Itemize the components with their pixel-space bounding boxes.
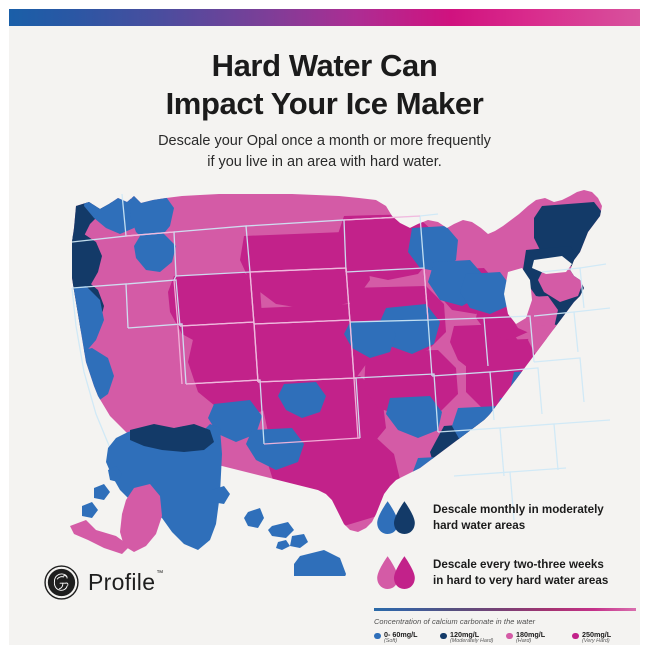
frame-right	[640, 0, 649, 654]
subtitle-line-2: if you live in an area with hard water.	[0, 152, 649, 173]
region-soft-arkansas-s	[412, 456, 470, 502]
hawaii-lanai	[276, 540, 290, 550]
scale-sub-very-hard: (Very Hard)	[582, 639, 611, 645]
hawaii-oahu	[244, 508, 264, 528]
frame-top	[0, 0, 649, 9]
ge-monogram-icon: GE	[44, 565, 79, 600]
scale-sub-hard: (Hard)	[516, 639, 545, 645]
alaska-island-2	[94, 484, 110, 500]
water-droplet-pair-blue-icon	[374, 498, 422, 538]
legend-pink-line-2: in hard to very hard water areas	[433, 573, 608, 589]
hawaii-big-island	[294, 550, 346, 576]
ge-profile-logo: GE Profile™	[44, 565, 163, 600]
scale-dot-very-hard	[572, 633, 579, 640]
legend-blue-line-2: hard water areas	[433, 518, 604, 534]
headline-line-1: Hard Water Can	[0, 47, 649, 85]
legend-row-pink: Descale every two-three weeks in hard to…	[374, 553, 640, 593]
region-soft-ohio-valley	[510, 370, 566, 416]
scale-item-very-hard: 250mg/L (Very Hard)	[572, 631, 638, 645]
scale-legend-items: 0- 60mg/L (Soft) 120mg/L (Moderately Har…	[374, 631, 640, 645]
scale-dot-soft	[374, 633, 381, 640]
scale-sub-moderately-hard: (Moderately Hard)	[450, 639, 493, 645]
subtitle-line-1: Descale your Opal once a month or more f…	[0, 131, 649, 152]
headline-line-2: Impact Your Ice Maker	[0, 85, 649, 123]
page-title: Hard Water Can Impact Your Ice Maker	[0, 47, 649, 123]
legend-panel: Descale monthly in moderately hard water…	[374, 498, 640, 654]
legend-pink-line-1: Descale every two-three weeks	[433, 557, 608, 573]
hawaii-molokai	[268, 522, 294, 538]
scale-dot-moderately-hard	[440, 633, 447, 640]
scale-item-moderately-hard: 120mg/L (Moderately Hard)	[440, 631, 506, 645]
legend-pink-text: Descale every two-three weeks in hard to…	[433, 553, 608, 588]
water-droplet-pair-pink-icon	[374, 553, 422, 593]
scale-caption: Concentration of calcium carbonate in th…	[374, 617, 640, 626]
frame-left	[0, 0, 9, 654]
scale-item-hard: 180mg/L (Hard)	[506, 631, 572, 645]
subtitle: Descale your Opal once a month or more f…	[0, 131, 649, 173]
scale-label-moderately-hard: 120mg/L (Moderately Hard)	[450, 631, 493, 645]
frame-bottom	[0, 645, 649, 654]
alaska-inset	[70, 424, 222, 554]
scale-sub-soft: (Soft)	[384, 639, 418, 645]
alaska-island-3	[82, 502, 98, 518]
region-moderately-hard-virginia	[550, 324, 612, 386]
brand-name-text: Profile	[88, 569, 155, 595]
brand-name: Profile™	[88, 571, 163, 594]
hawaii-inset	[208, 486, 346, 576]
infographic-poster: Hard Water Can Impact Your Ice Maker Des…	[0, 0, 649, 654]
scale-label-soft: 0- 60mg/L (Soft)	[384, 631, 418, 645]
top-gradient-bar	[9, 9, 640, 26]
hawaii-maui	[290, 534, 308, 548]
scale-dot-hard	[506, 633, 513, 640]
scale-item-soft: 0- 60mg/L (Soft)	[374, 631, 440, 645]
trademark-symbol: ™	[156, 570, 163, 577]
concentration-gradient-bar	[374, 608, 636, 611]
scale-label-very-hard: 250mg/L (Very Hard)	[582, 631, 611, 645]
legend-blue-line-1: Descale monthly in moderately	[433, 502, 604, 518]
scale-label-hard: 180mg/L (Hard)	[516, 631, 545, 645]
legend-blue-text: Descale monthly in moderately hard water…	[433, 498, 604, 533]
region-soft-kentucky	[496, 396, 552, 442]
legend-row-blue: Descale monthly in moderately hard water…	[374, 498, 640, 538]
